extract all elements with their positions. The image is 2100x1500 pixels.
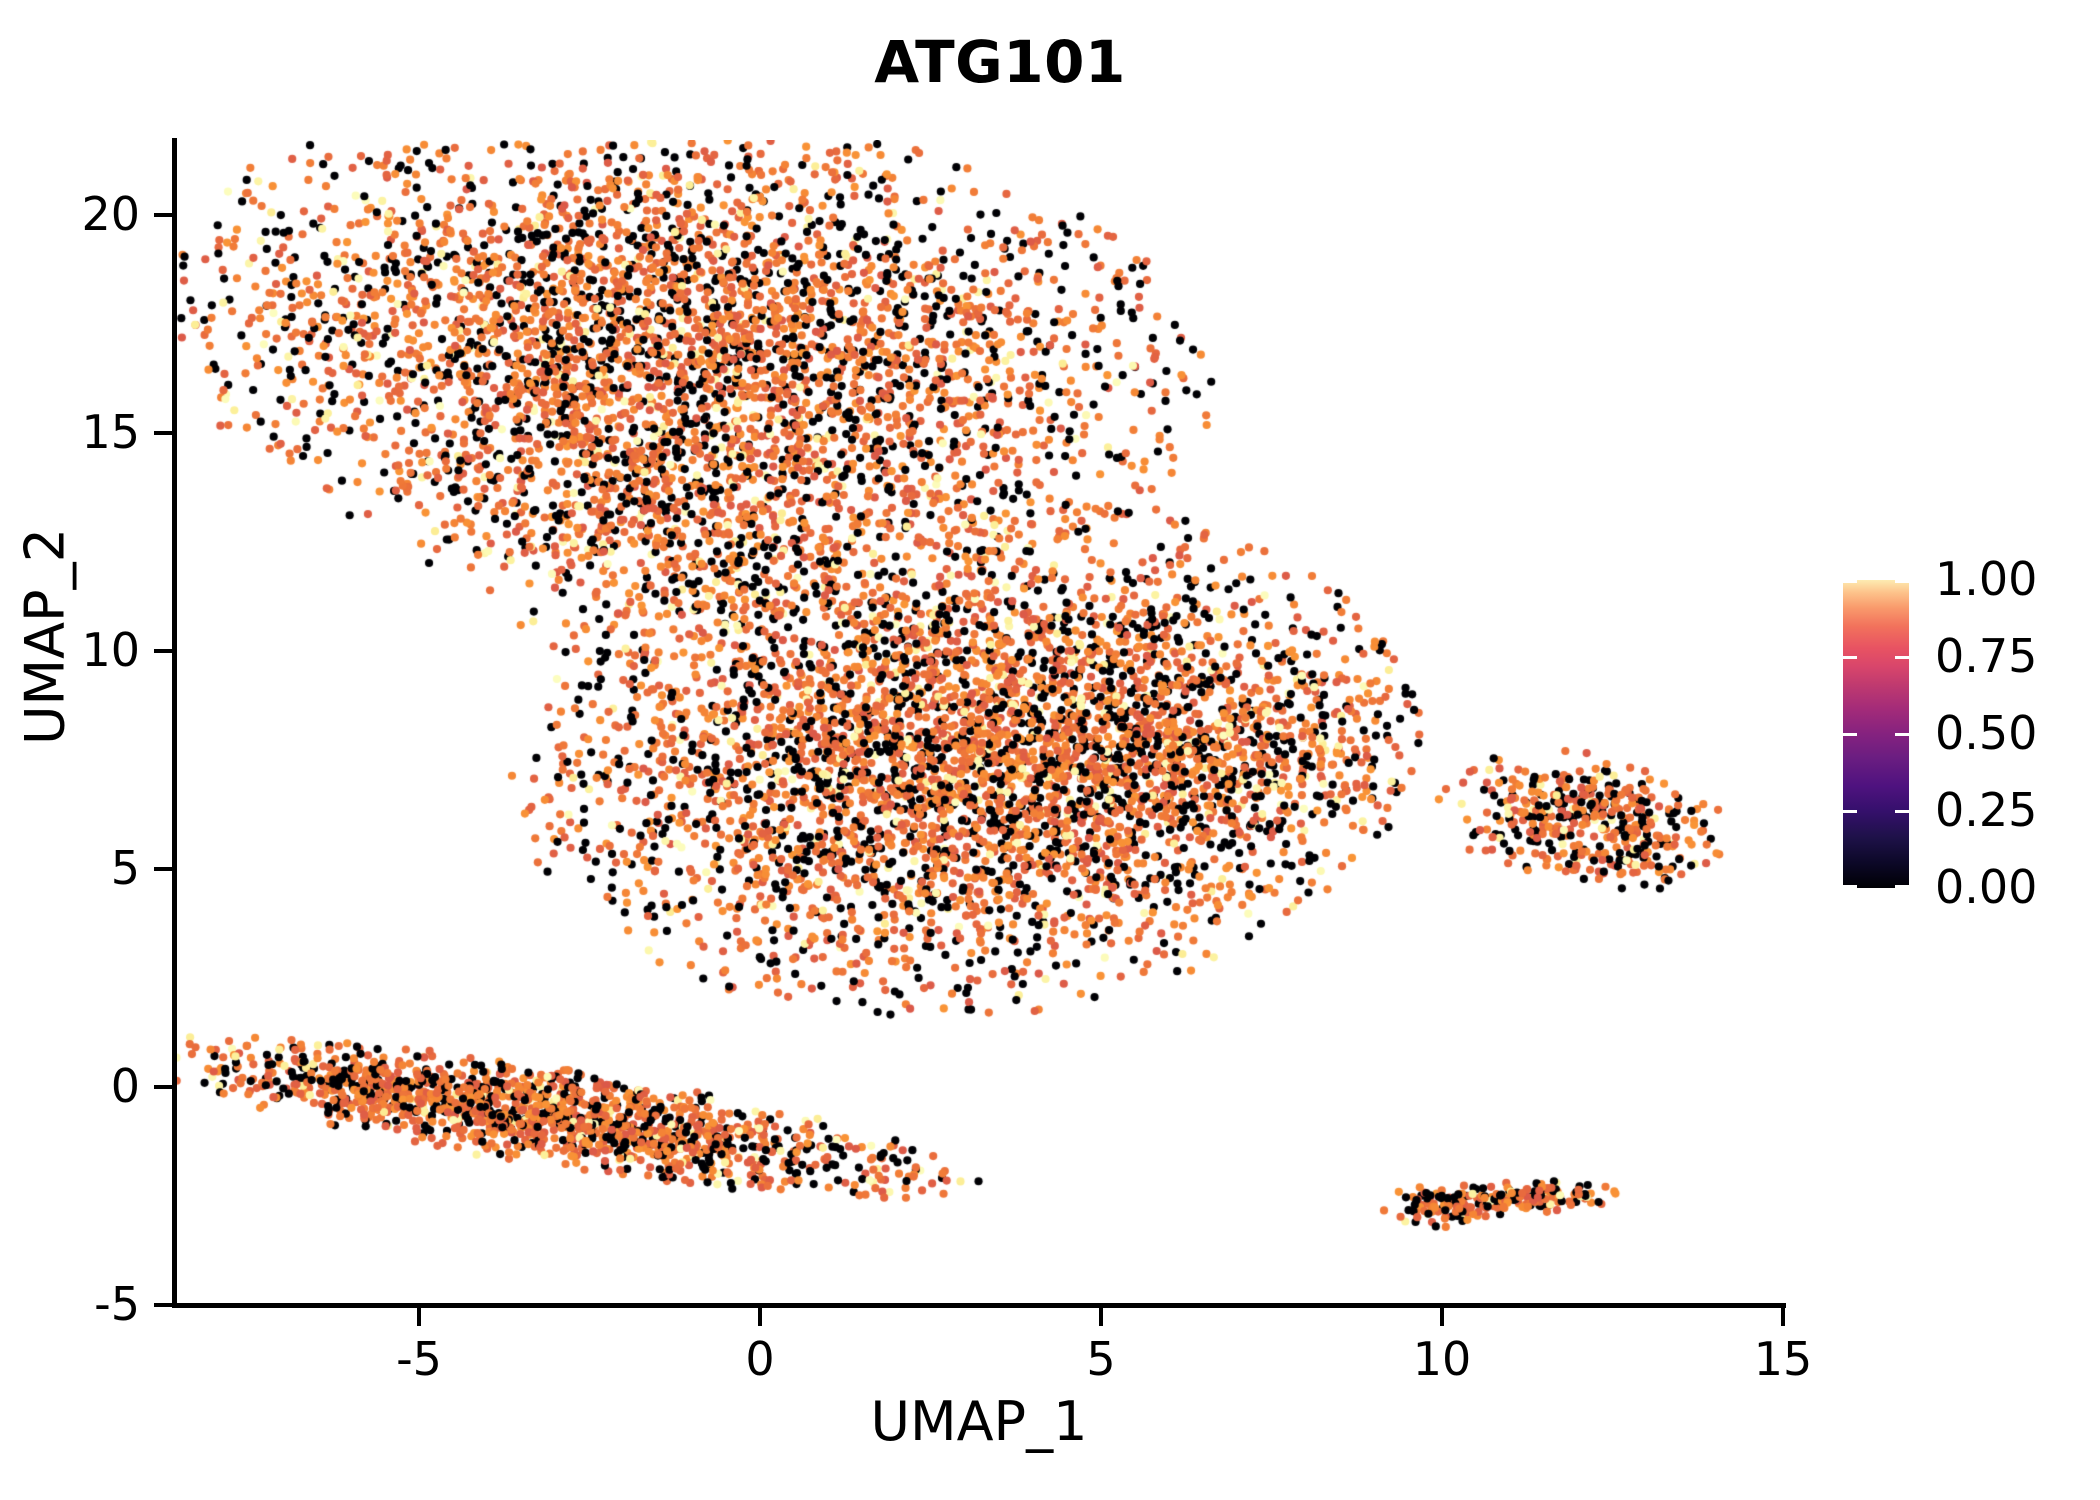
colorbar-tick-mark [1895, 733, 1909, 736]
chart-title: ATG101 [0, 28, 2000, 96]
colorbar-tick-mark [1895, 656, 1909, 659]
y-tick-mark [154, 431, 172, 435]
x-tick-mark [758, 1308, 762, 1326]
x-tick-mark [1440, 1308, 1444, 1326]
scatter-canvas [175, 140, 1783, 1305]
y-tick-mark [154, 867, 172, 871]
y-tick-mark [154, 1303, 172, 1307]
x-axis-title: UMAP_1 [175, 1390, 1783, 1453]
colorbar-tick-label: 0.00 [1935, 860, 2037, 914]
y-axis-title: UMAP_2 [14, 87, 77, 1187]
colorbar-tick-label: 0.75 [1935, 629, 2037, 683]
colorbar: 0.000.250.500.751.00 [1843, 580, 2093, 895]
colorbar-tick-label: 0.25 [1935, 783, 2037, 837]
x-tick-mark [1781, 1308, 1785, 1326]
y-tick-mark [154, 1085, 172, 1089]
x-tick-label: -5 [349, 1332, 489, 1386]
colorbar-tick-mark [1843, 580, 1857, 583]
y-tick-label: -5 [20, 1277, 140, 1331]
plot-area [175, 140, 1783, 1305]
colorbar-tick-mark [1843, 810, 1857, 813]
x-tick-mark [417, 1308, 421, 1326]
colorbar-tick-mark [1843, 733, 1857, 736]
x-tick-label: 0 [690, 1332, 830, 1386]
colorbar-tick-mark [1895, 810, 1909, 813]
y-axis-spine [172, 138, 177, 1308]
y-tick-mark [154, 649, 172, 653]
x-tick-label: 10 [1372, 1332, 1512, 1386]
colorbar-tick-mark [1843, 656, 1857, 659]
x-tick-label: 15 [1713, 1332, 1853, 1386]
figure-root: ATG101 -505101520 -5051015 UMAP_1 UMAP_2… [0, 0, 2100, 1500]
colorbar-tick-label: 0.50 [1935, 706, 2037, 760]
x-tick-label: 5 [1031, 1332, 1171, 1386]
colorbar-tick-mark [1895, 580, 1909, 583]
x-tick-mark [1099, 1308, 1103, 1326]
x-axis-spine [172, 1303, 1786, 1308]
colorbar-tick-label: 1.00 [1935, 552, 2037, 606]
colorbar-tick-mark [1895, 885, 1909, 888]
y-tick-mark [154, 213, 172, 217]
colorbar-tick-mark [1843, 885, 1857, 888]
